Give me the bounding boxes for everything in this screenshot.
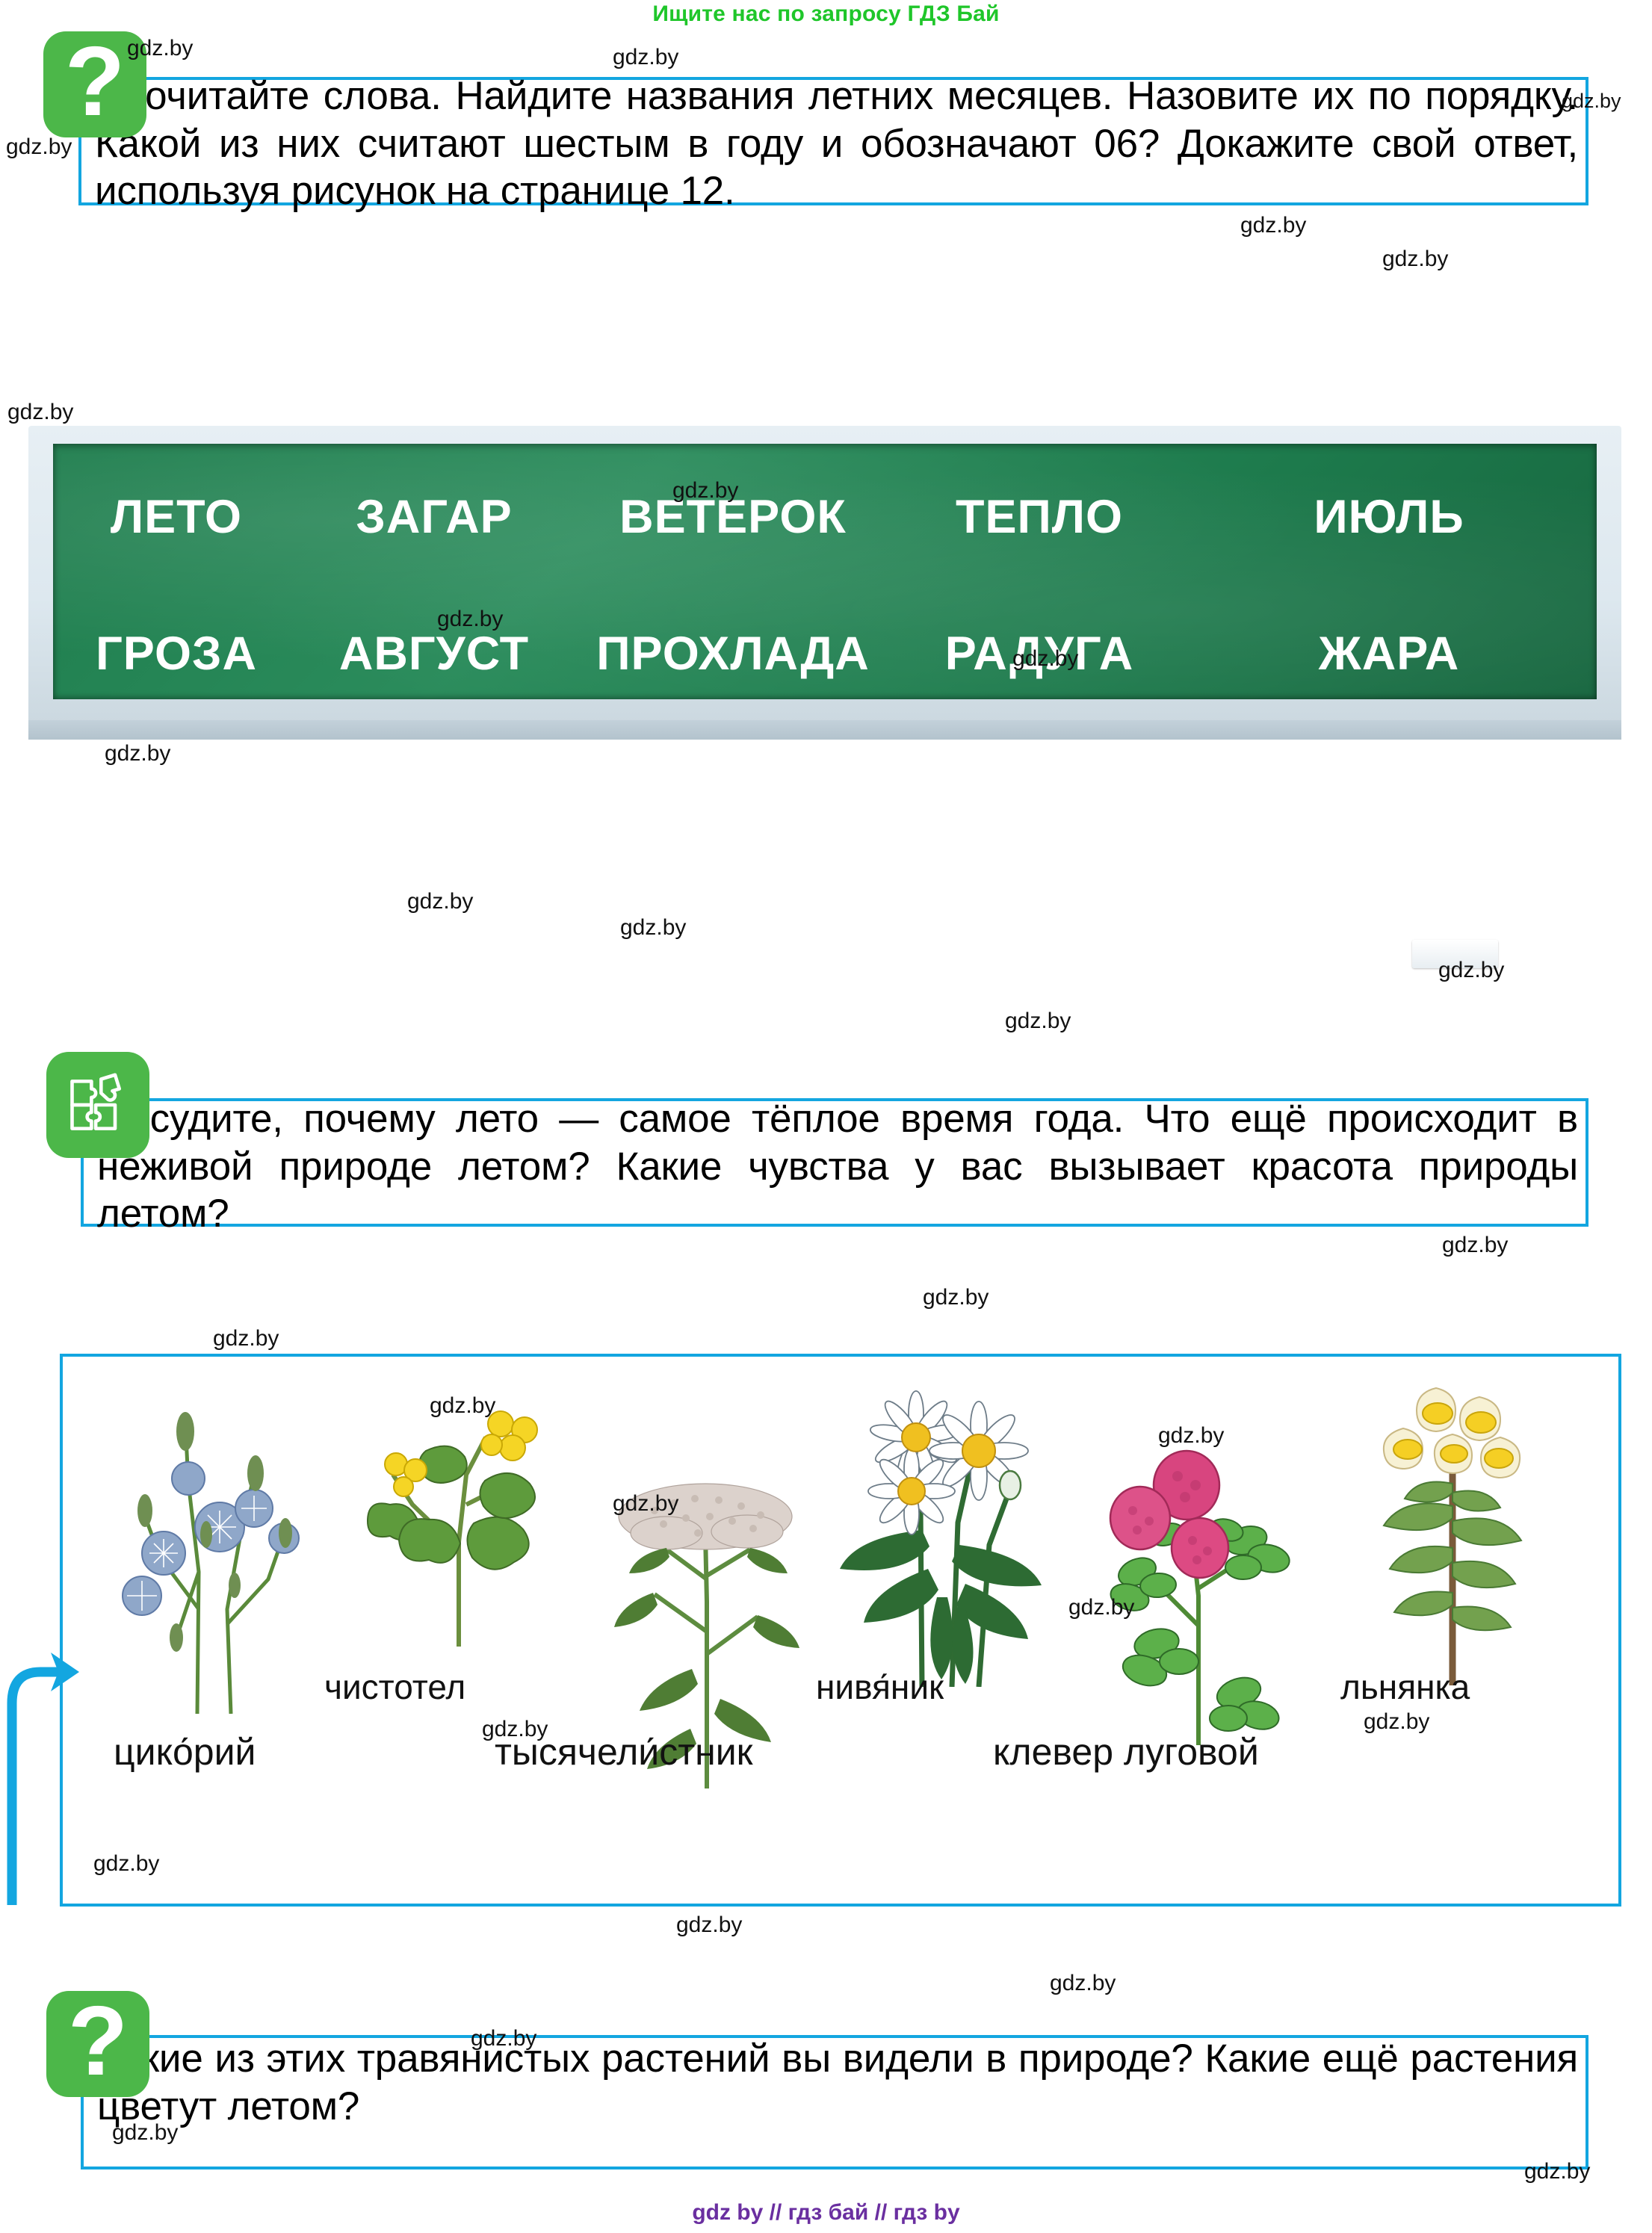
watermark: gdz.by bbox=[407, 889, 473, 914]
task-block-2: Обсудите, почему лето — самое тёплое вре… bbox=[81, 1098, 1588, 1227]
plant-image-celandine bbox=[354, 1393, 571, 1647]
watermark: gdz.by bbox=[6, 134, 72, 160]
plant-label-toadflax: льнянка bbox=[1340, 1667, 1470, 1707]
question-mark-icon: ? bbox=[43, 31, 146, 137]
plant-label-red-clover: клевер луговой bbox=[993, 1730, 1259, 1774]
word-item: ИЮНЬ bbox=[897, 764, 1181, 817]
watermark: gdz.by bbox=[1050, 1971, 1116, 1996]
watermark: gdz.by bbox=[613, 45, 678, 70]
celandine-illustration bbox=[354, 1393, 571, 1647]
word-row-3: ДУХОТА ЛИВЕНЬ КУПАНИЕ ИЮНЬ ЦВЕТЫ bbox=[53, 764, 1597, 817]
word-row-2: ГРОЗА АВГУСТ ПРОХЛАДА РАДУГА ЖАРА bbox=[53, 627, 1597, 681]
watermark: gdz.by bbox=[1382, 247, 1448, 272]
word-item: ЦВЕТЫ bbox=[1181, 764, 1597, 817]
word-row-1: ЛЕТО ЗАГАР ВЕТЕРОК ТЕПЛО ИЮЛЬ bbox=[53, 490, 1597, 544]
chalkboard: ЛЕТО ЗАГАР ВЕТЕРОК ТЕПЛО ИЮЛЬ ГРОЗА АВГУ… bbox=[28, 426, 1621, 740]
red-clover-illustration bbox=[1086, 1402, 1311, 1745]
plant-image-chicory bbox=[108, 1385, 324, 1714]
question-mark-glyph: ? bbox=[65, 32, 126, 131]
word-item: ИЮЛЬ bbox=[1181, 490, 1597, 544]
task-block-3: Какие из этих травянистых растений вы ви… bbox=[81, 2035, 1588, 2169]
chalk-eraser bbox=[1412, 940, 1498, 968]
task-1-text: Прочитайте слова. Найдите названия летни… bbox=[95, 72, 1578, 215]
question-mark-glyph: ? bbox=[68, 1992, 129, 2090]
plant-label-chicory: цико́рий bbox=[114, 1730, 256, 1774]
plant-image-toadflax bbox=[1348, 1372, 1557, 1685]
word-item: АВГУСТ bbox=[300, 627, 569, 681]
task-3-text: Какие из этих травянистых растений вы ви… bbox=[97, 2035, 1578, 2130]
word-item: ЛИВЕНЬ bbox=[300, 764, 569, 817]
word-item: РАДУГА bbox=[897, 627, 1181, 681]
word-item: ВЕТЕРОК bbox=[569, 490, 897, 544]
plant-label-celandine: чистотел bbox=[324, 1667, 465, 1707]
word-item: КУПАНИЕ bbox=[569, 764, 897, 817]
chalkboard-surface: ЛЕТО ЗАГАР ВЕТЕРОК ТЕПЛО ИЮЛЬ ГРОЗА АВГУ… bbox=[53, 444, 1597, 699]
plant-label-yarrow: тысячели́стник bbox=[495, 1730, 753, 1774]
puzzle-icon bbox=[46, 1052, 149, 1158]
watermark: gdz.by bbox=[620, 915, 686, 941]
plant-label-oxeye-daisy: нивя́ник bbox=[816, 1667, 944, 1707]
word-item: ЗАГАР bbox=[300, 490, 569, 544]
watermark: gdz.by bbox=[1005, 1009, 1071, 1034]
word-item: ТЕПЛО bbox=[897, 490, 1181, 544]
question-mark-icon: ? bbox=[46, 1991, 149, 2097]
watermark: gdz.by bbox=[676, 1913, 742, 1938]
word-item: ДУХОТА bbox=[53, 764, 300, 817]
word-item: ЖАРА bbox=[1181, 627, 1597, 681]
oxeye-daisy-illustration bbox=[832, 1373, 1057, 1687]
page-footer: gdz by // гдз бай // гдз by bbox=[0, 2200, 1652, 2226]
watermark: gdz.by bbox=[7, 400, 73, 425]
watermark: gdz.by bbox=[1240, 213, 1306, 238]
puzzle-glyph bbox=[64, 1071, 132, 1139]
watermark: gdz.by bbox=[923, 1285, 989, 1310]
site-banner: Ищите нас по запросу ГДЗ Бай bbox=[0, 1, 1652, 27]
word-item: ЛЕТО bbox=[53, 490, 300, 544]
pointer-arrow-icon bbox=[1, 1621, 91, 1905]
plant-image-oxeye-daisy bbox=[832, 1373, 1057, 1687]
word-item: ПРОХЛАДА bbox=[569, 627, 897, 681]
plant-image-red-clover bbox=[1086, 1402, 1311, 1745]
task-block-1: Прочитайте слова. Найдите названия летни… bbox=[78, 77, 1588, 205]
watermark: gdz.by bbox=[213, 1326, 279, 1351]
chicory-illustration bbox=[108, 1385, 324, 1714]
watermark: gdz.by bbox=[105, 741, 170, 766]
toadflax-illustration bbox=[1348, 1372, 1557, 1685]
plants-panel: чистотел нивя́ник льнянка цико́рий тысяч… bbox=[60, 1354, 1621, 1907]
word-item: ГРОЗА bbox=[53, 627, 300, 681]
task-2-text: Обсудите, почему лето — самое тёплое вре… bbox=[97, 1095, 1578, 1238]
